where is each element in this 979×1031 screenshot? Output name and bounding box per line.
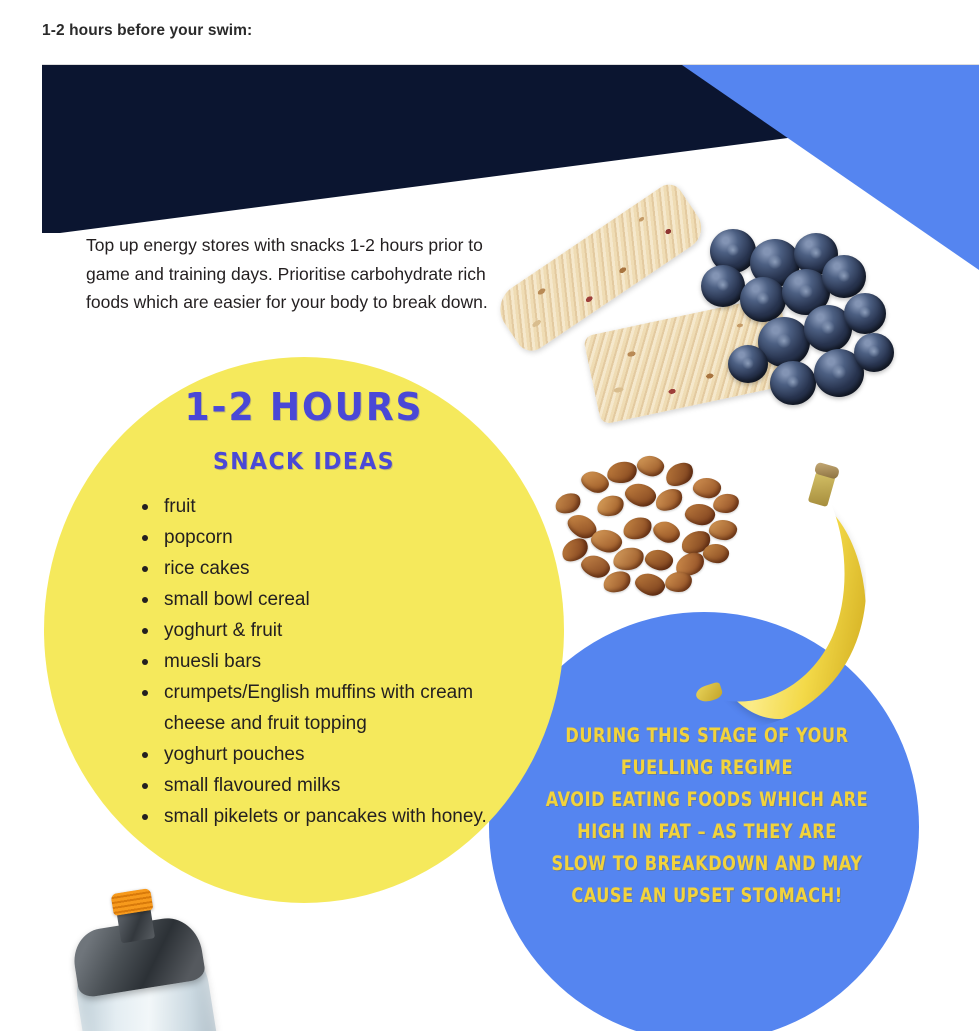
blue-panel-line: SLOW TO BREAKDOWN AND MAY (528, 848, 887, 880)
list-item: small bowl cereal (142, 584, 502, 615)
blue-panel-line: CAUSE AN UPSET STOMACH! (528, 880, 887, 912)
blue-panel-line: AVOID EATING FOODS WHICH ARE (528, 784, 887, 816)
blueberry (701, 265, 745, 307)
raisin (643, 547, 675, 573)
blueberry (854, 333, 894, 372)
raisin (621, 515, 654, 542)
banana-stem (808, 469, 837, 507)
raisin (622, 480, 658, 511)
page-root: 1-2 hours before your swim: Top up energ… (0, 0, 979, 1031)
blueberry (770, 361, 816, 405)
infographic-card: Top up energy stores with snacks 1-2 hou… (42, 64, 979, 1031)
blue-panel-line: HIGH IN FAT – AS THEY ARE (528, 816, 887, 848)
page-caption: 1-2 hours before your swim: (42, 22, 252, 40)
blueberry (844, 293, 886, 334)
blue-panel-line: FUELLING REGIME (528, 752, 887, 784)
water-bottle-photo (52, 893, 232, 1031)
blue-panel-text: DURING THIS STAGE OF YOUR FUELLING REGIM… (528, 720, 887, 912)
banana-body (698, 491, 866, 719)
snack-ideas-list: fruit popcorn rice cakes small bowl cere… (142, 491, 502, 832)
raisin (664, 571, 692, 593)
list-item: popcorn (142, 522, 502, 553)
raisin (632, 570, 667, 600)
banana-tip (694, 681, 724, 704)
blueberry (740, 277, 786, 322)
list-item: yoghurt pouches (142, 739, 502, 770)
list-item: small pikelets or pancakes with honey. (142, 801, 502, 832)
banana-photo (692, 463, 902, 738)
list-item: rice cakes (142, 553, 502, 584)
raisin (652, 485, 685, 514)
list-item: crumpets/English muffins with cream chee… (142, 677, 502, 739)
list-item: small flavoured milks (142, 770, 502, 801)
raisin (635, 453, 666, 479)
raisin (553, 490, 584, 516)
list-item: yoghurt & fruit (142, 615, 502, 646)
yellow-panel-subheading: SNACK IDEAS (76, 447, 532, 477)
raisin (595, 493, 626, 518)
raisin (606, 460, 639, 485)
yellow-panel-heading: 1-2 HOURS (76, 385, 532, 429)
intro-paragraph: Top up energy stores with snacks 1-2 hou… (86, 231, 506, 317)
list-item: fruit (142, 491, 502, 522)
blueberry (728, 345, 768, 383)
yellow-panel-content: 1-2 HOURS SNACK IDEAS fruit popcorn rice… (64, 385, 544, 832)
blue-panel-line: DURING THIS STAGE OF YOUR (528, 720, 887, 752)
list-item: muesli bars (142, 646, 502, 677)
raisin (650, 517, 683, 547)
blueberry (822, 255, 866, 298)
